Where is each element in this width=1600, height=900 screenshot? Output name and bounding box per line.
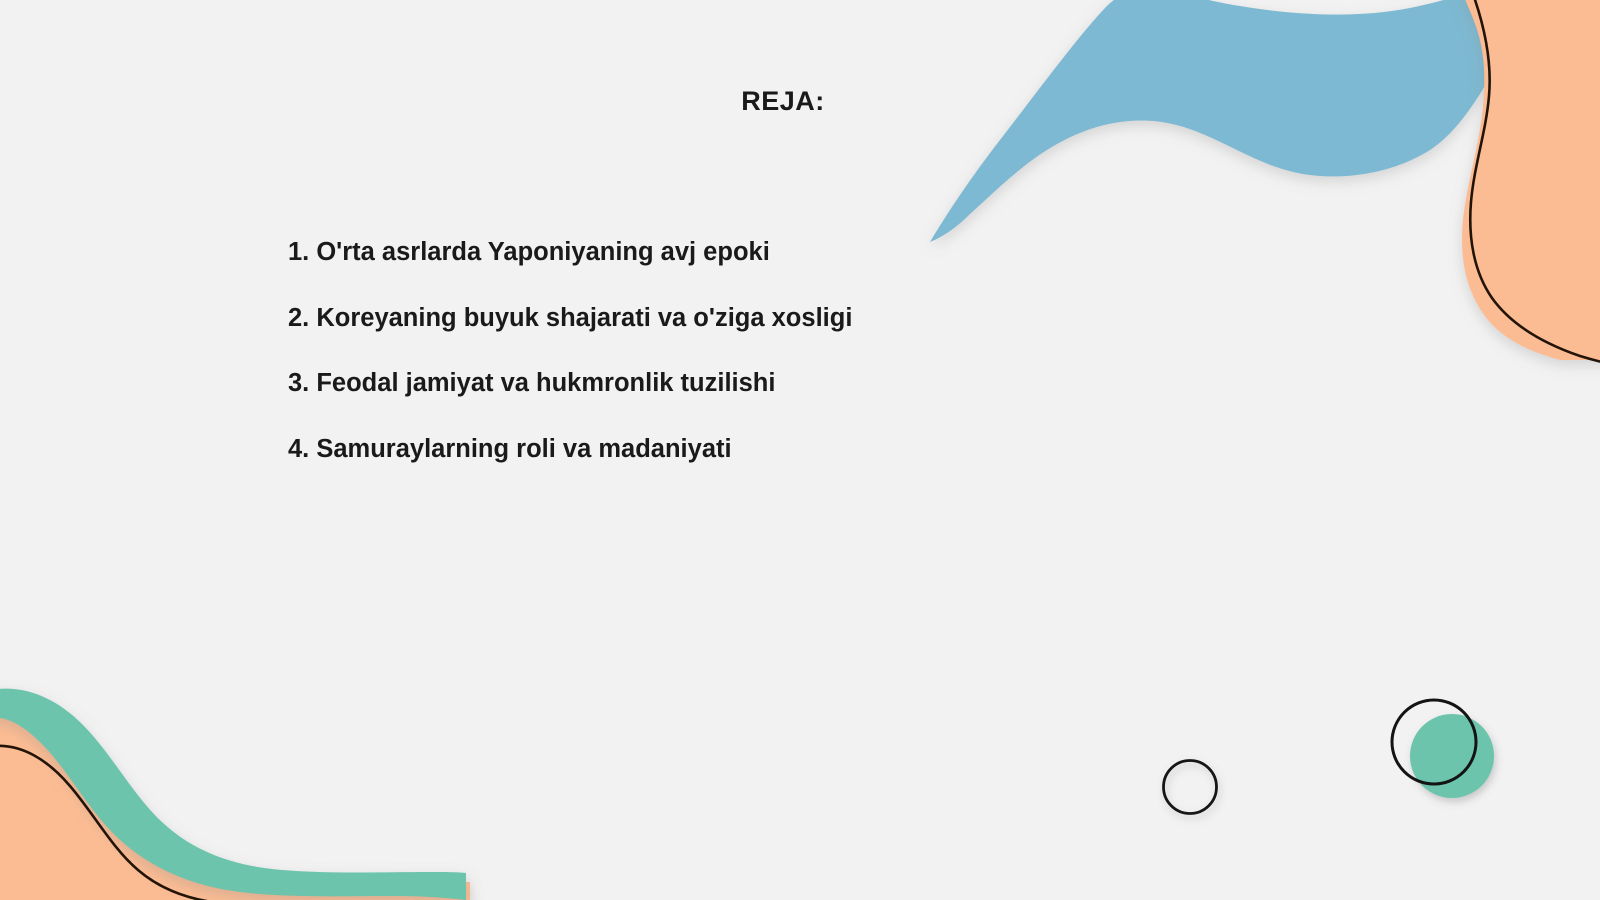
page-title: REJA: xyxy=(0,86,1566,117)
list-item: 1. O'rta asrlarda Yaponiyaning avj epoki xyxy=(288,240,1288,266)
blue-blob-top-right xyxy=(930,0,1500,242)
small-outline-circle xyxy=(1164,761,1217,814)
teal-wave-bottom-left xyxy=(0,689,466,900)
dark-outline-curve-bottom-left xyxy=(0,746,212,900)
teal-filled-circle xyxy=(1410,714,1494,798)
dark-outline-curve-top-right xyxy=(1470,0,1600,366)
large-outline-circle xyxy=(1392,700,1476,784)
peach-wave-bottom-left xyxy=(0,710,470,900)
list-item: 2. Koreyaning buyuk shajarati va o'ziga … xyxy=(288,306,1288,332)
agenda-list: 1. O'rta asrlarda Yaponiyaning avj epoki… xyxy=(288,240,1288,462)
list-item: 4. Samuraylarning roli va madaniyati xyxy=(288,437,1288,463)
slide-canvas: REJA: 1. O'rta asrlarda Yaponiyaning avj… xyxy=(0,0,1600,900)
list-item: 3. Feodal jamiyat va hukmronlik tuzilish… xyxy=(288,371,1288,397)
peach-blob-top-right xyxy=(1462,0,1600,360)
